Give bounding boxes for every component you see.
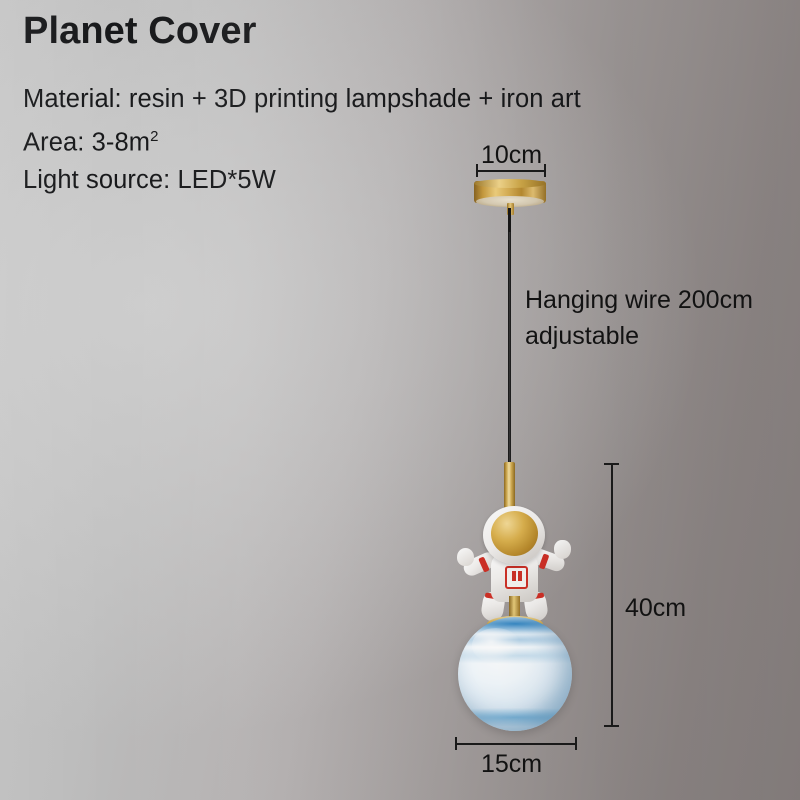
- spec-area-text: Area: 3-8m: [23, 129, 150, 157]
- dimension-cap-globe-left: [455, 737, 457, 750]
- dimension-line-fixture-height: [611, 463, 613, 727]
- astronaut-right-hand: [554, 540, 571, 559]
- dimension-cap-canopy-right: [544, 164, 546, 177]
- spec-area: Area: 3-8m2: [23, 129, 159, 156]
- globe-highlight: [472, 628, 520, 662]
- page-title: Planet Cover: [23, 12, 257, 50]
- dimension-cap-height-top: [604, 463, 619, 465]
- hanging-wire: [508, 232, 511, 464]
- spec-material: Material: resin + 3D printing lampshade …: [23, 87, 581, 113]
- canopy-top-face: [474, 179, 546, 188]
- annotation-hanging-wire-line1: Hanging wire 200cm: [525, 288, 753, 313]
- dimension-cap-canopy-left: [476, 164, 478, 177]
- dimension-cap-height-bottom: [604, 725, 619, 727]
- astronaut-figurine: [455, 500, 575, 628]
- product-image-canvas: Planet Cover Material: resin + 3D printi…: [0, 0, 800, 800]
- dimension-line-canopy-width: [476, 170, 546, 172]
- spec-area-superscript: 2: [150, 128, 158, 145]
- astronaut-gold-visor: [491, 511, 538, 556]
- planet-globe-shade: [458, 617, 572, 731]
- spec-light-source: Light source: LED*5W: [23, 168, 276, 194]
- ceiling-canopy: [474, 179, 546, 209]
- dimension-label-canopy-width: 10cm: [481, 143, 542, 168]
- dimension-label-globe-diameter: 15cm: [481, 752, 542, 777]
- dimension-line-globe-diameter: [455, 743, 577, 745]
- dimension-label-fixture-height: 40cm: [625, 596, 686, 621]
- astronaut-chest-badge: [505, 566, 528, 589]
- annotation-hanging-wire-line2: adjustable: [525, 324, 639, 349]
- astronaut-left-hand: [457, 548, 474, 566]
- dimension-cap-globe-right: [575, 737, 577, 750]
